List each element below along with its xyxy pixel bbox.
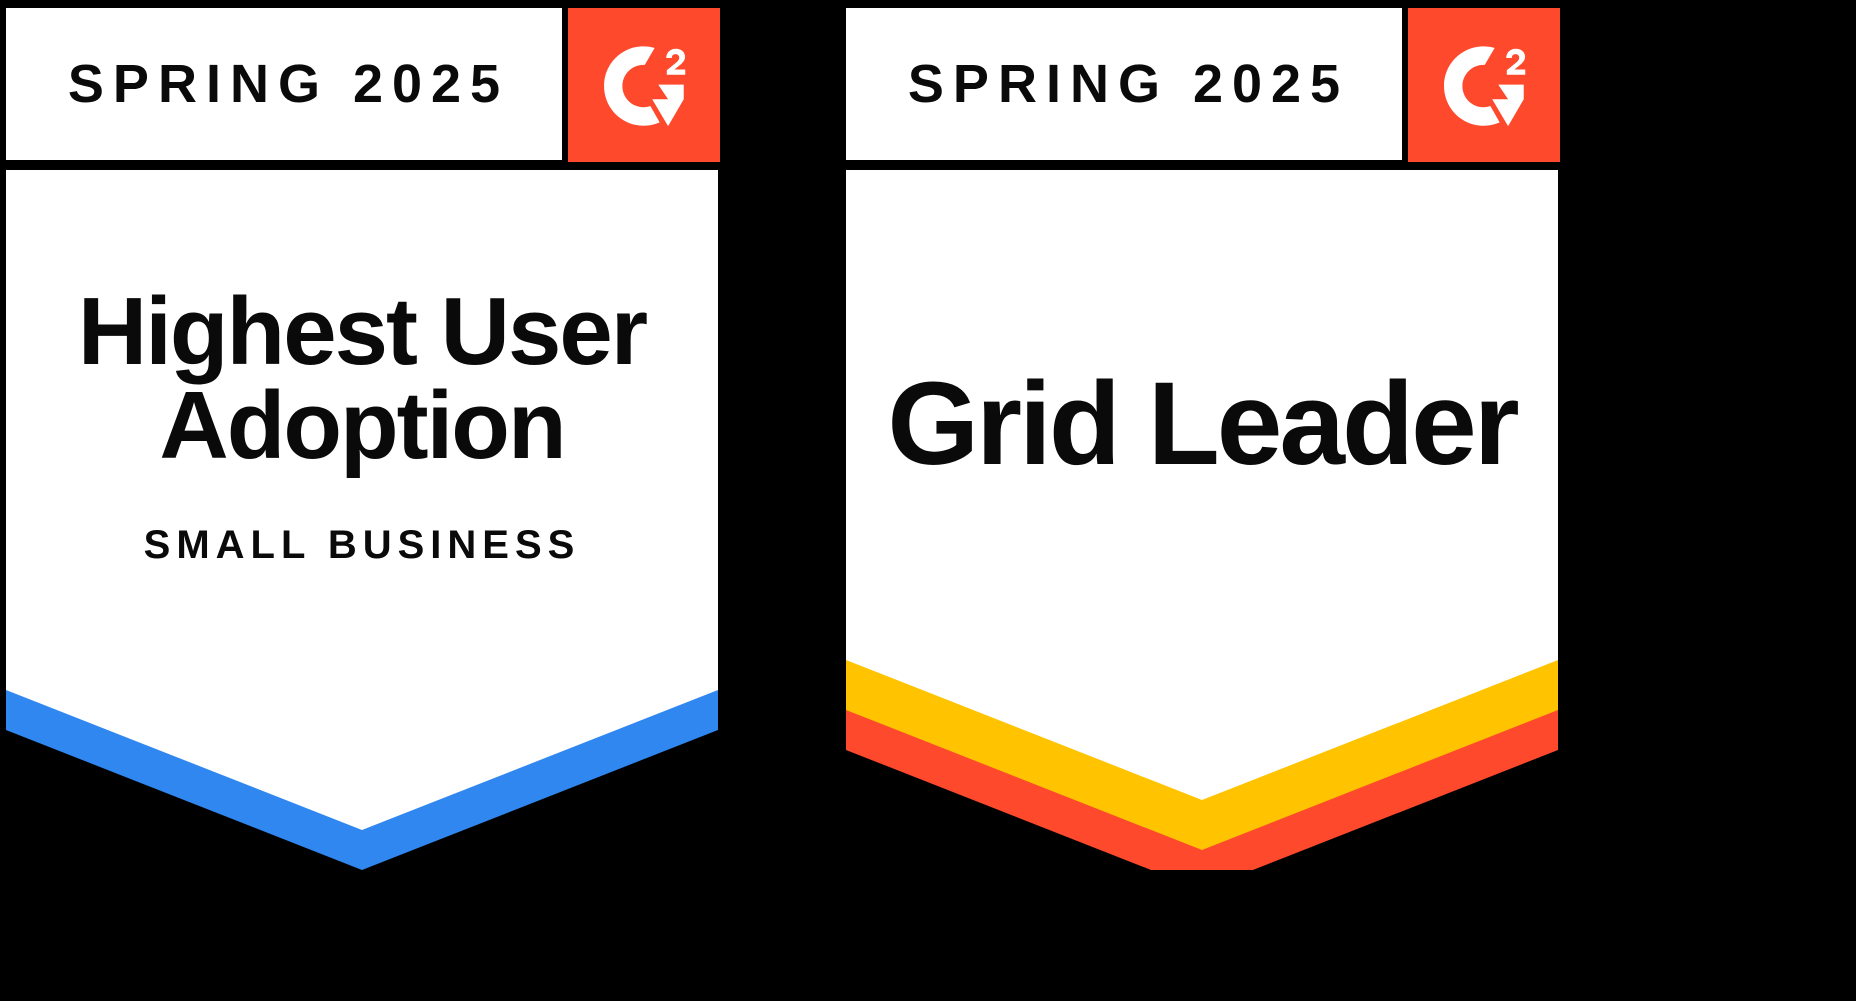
g2-logo-icon <box>1430 31 1538 139</box>
g2-logo-badge[interactable] <box>568 8 720 162</box>
badge-grid-leader[interactable]: SPRING 2025 <box>840 0 1560 870</box>
badge-header: SPRING 2025 <box>840 0 1560 162</box>
season-year-strip: SPRING 2025 <box>6 8 562 160</box>
badge-ribbon-shape <box>6 170 718 870</box>
g2-logo-badge[interactable] <box>1408 8 1560 162</box>
badge-body: Highest User Adoption SMALL BUSINESS <box>6 170 718 870</box>
season-year-label: SPRING 2025 <box>899 57 1349 111</box>
banner-white <box>6 170 718 830</box>
season-year-strip: SPRING 2025 <box>846 8 1402 160</box>
badge-header: SPRING 2025 <box>0 0 720 162</box>
badges-canvas: SPRING 2025 <box>0 0 1856 1001</box>
badge-highest-user-adoption[interactable]: SPRING 2025 <box>0 0 720 870</box>
badge-ribbon-shape <box>846 170 1558 870</box>
g2-logo-icon <box>590 31 698 139</box>
season-year-label: SPRING 2025 <box>59 57 509 111</box>
badge-body: Grid Leader <box>846 170 1558 870</box>
